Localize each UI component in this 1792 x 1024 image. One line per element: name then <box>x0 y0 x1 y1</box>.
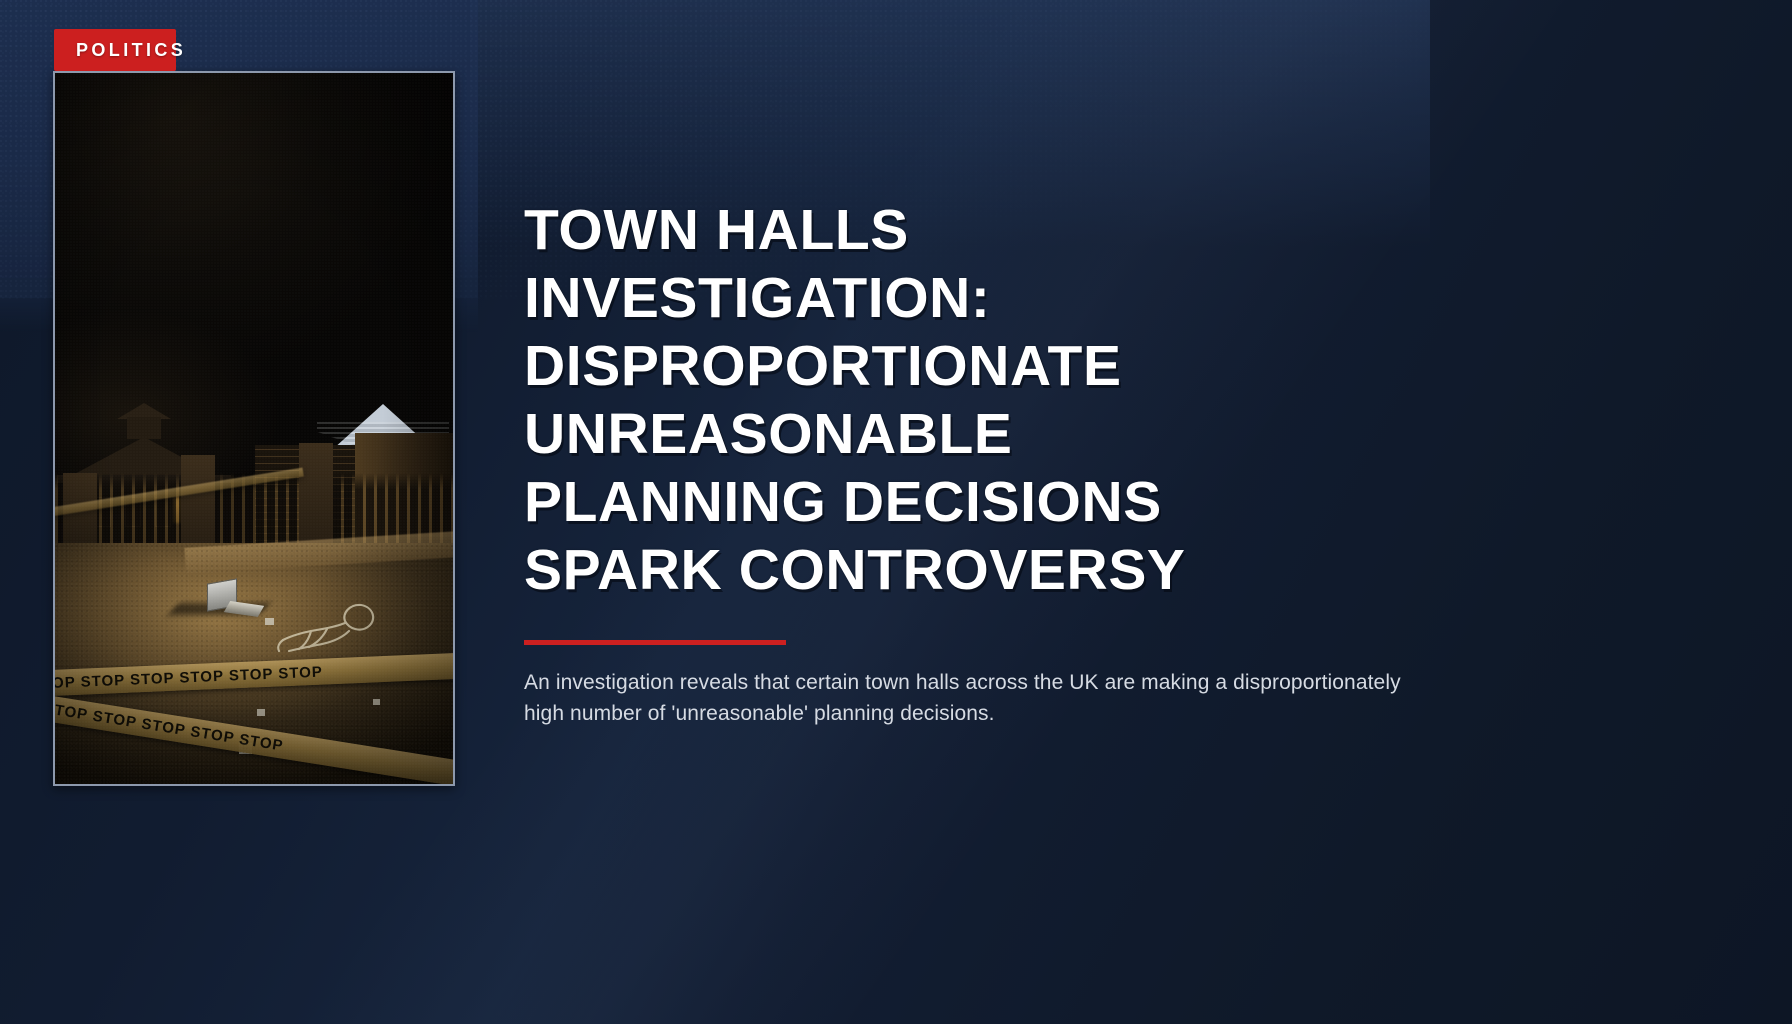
category-badge[interactable]: POLITICS <box>54 29 176 71</box>
headline-line: DISPROPORTIONATE <box>524 334 1122 398</box>
article-subtitle: An investigation reveals that certain to… <box>524 667 1404 729</box>
page-title: TOWN HALLS INVESTIGATION: DISPROPORTIONA… <box>524 196 1284 604</box>
headline-line: SPARK CONTROVERSY <box>524 538 1186 602</box>
category-badge-label: POLITICS <box>76 41 186 59</box>
article-image-card[interactable]: 12 STOP STOP STOP STOP STOP STOP STOP ST… <box>53 71 455 786</box>
accent-divider <box>524 640 786 645</box>
article-content: TOWN HALLS INVESTIGATION: DISPROPORTIONA… <box>524 196 1604 729</box>
headline-line: INVESTIGATION: <box>524 266 991 330</box>
photo-chalk-body-outline <box>265 593 385 661</box>
photo-debris <box>373 699 380 705</box>
headline-line: TOWN HALLS <box>524 198 909 262</box>
headline-line: PLANNING DECISIONS <box>524 470 1162 534</box>
crime-scene-photo: 12 STOP STOP STOP STOP STOP STOP STOP ST… <box>55 73 453 784</box>
photo-debris <box>257 709 265 716</box>
headline-line: UNREASONABLE <box>524 402 1013 466</box>
